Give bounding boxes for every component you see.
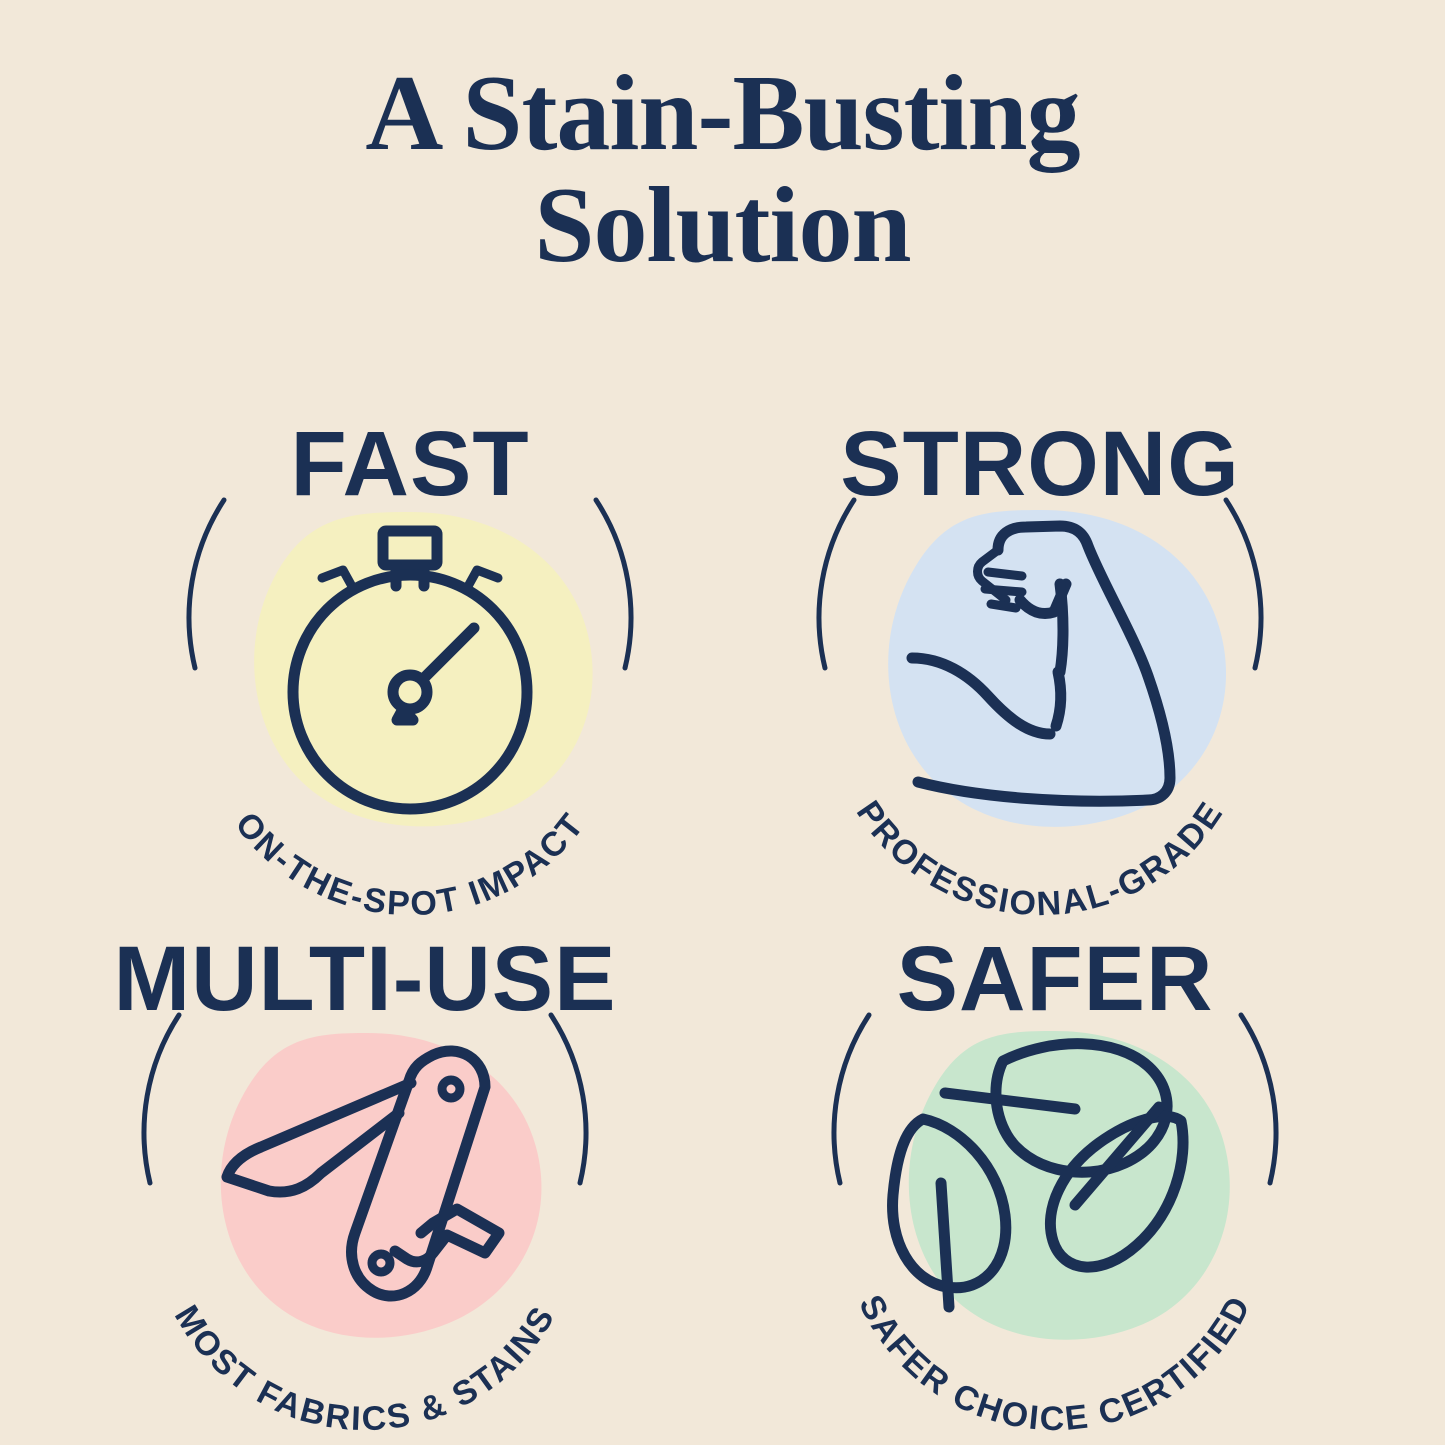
badge-heading-multi-use: MULTI-USE: [113, 928, 616, 1030]
page-title: A Stain-Busting Solution: [0, 58, 1445, 282]
benefit-badge-grid: FAST: [0, 400, 1445, 1430]
badge-multi-use: MULTI-USE MOST FABRICS & STAINS: [55, 915, 675, 1415]
badge-heading-fast: FAST: [290, 413, 529, 515]
badge-arc-left: [189, 500, 224, 668]
promo-graphic: A Stain-Busting Solution FAST: [0, 0, 1445, 1445]
badge-arc-left: [819, 500, 854, 668]
badge-heading-strong: STRONG: [840, 413, 1240, 515]
badge-safer: SAFER SAFER CHOICE CERTIFIED: [745, 915, 1365, 1415]
blob-shape-green: [909, 1031, 1230, 1340]
page-title-line-1: A Stain-Busting: [0, 58, 1445, 170]
page-title-line-2: Solution: [0, 170, 1445, 282]
badge-strong: STRONG: [730, 400, 1350, 900]
badge-arc-left: [144, 1015, 179, 1183]
badge-arc-right: [1241, 1015, 1276, 1183]
badge-arc-right: [551, 1015, 586, 1183]
badge-heading-safer: SAFER: [897, 928, 1214, 1030]
badge-arc-left: [834, 1015, 869, 1183]
blob-shape-yellow: [254, 512, 592, 826]
badge-arc-right: [1226, 500, 1261, 668]
badge-arc-right: [596, 500, 631, 668]
badge-fast: FAST: [100, 400, 720, 900]
